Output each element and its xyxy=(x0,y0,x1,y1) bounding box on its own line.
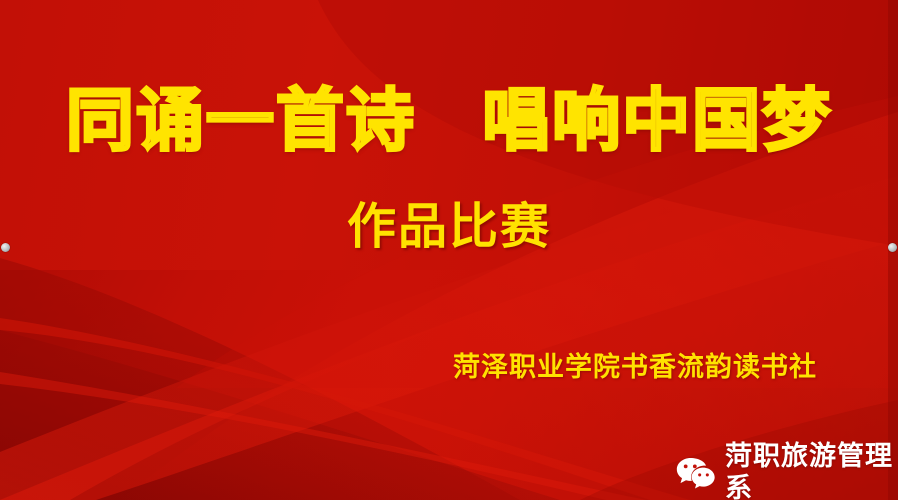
slide-subtitle: 作品比赛 xyxy=(0,198,898,256)
wechat-icon xyxy=(676,456,716,490)
title-segment-1: 同诵一首诗 xyxy=(66,82,416,162)
wechat-watermark: 菏职旅游管理系 xyxy=(676,441,898,500)
slide-title: 同诵一首诗 唱响中国梦 xyxy=(0,82,898,162)
organization-name: 菏泽职业学院书香流韵读书社 xyxy=(453,351,817,385)
presentation-slide: 同诵一首诗 唱响中国梦 作品比赛 菏泽职业学院书香流韵读书社 菏职旅游管理系 xyxy=(0,0,898,500)
wechat-account-name: 菏职旅游管理系 xyxy=(725,441,898,500)
title-segment-2: 唱响中国梦 xyxy=(482,82,832,162)
